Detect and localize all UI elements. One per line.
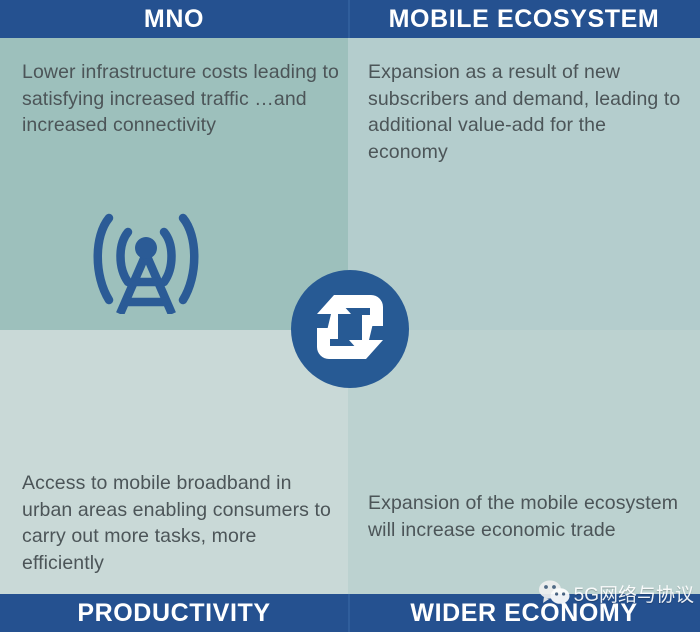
header-bar: MNO MOBILE ECOSYSTEM (0, 0, 700, 38)
quadrant-productivity: Access to mobile broadband in urban area… (0, 330, 348, 594)
header-label-mobile-ecosystem: MOBILE ECOSYSTEM (348, 0, 700, 38)
footer-label-productivity: PRODUCTIVITY (0, 594, 348, 632)
quadrant-mno-body: Lower infrastructure costs leading to sa… (22, 59, 340, 139)
watermark-text: 5G网络与协议 (574, 580, 694, 607)
quadrant-productivity-body: Access to mobile broadband in urban area… (22, 470, 340, 576)
quadrant-mno: Lower infrastructure costs leading to sa… (0, 38, 348, 330)
center-cycle-badge (291, 270, 409, 388)
quadrant-wider-economy: Expansion of the mobile ecosystem will i… (348, 330, 700, 594)
wechat-icon (538, 580, 570, 607)
cycle-arrows-icon (313, 292, 387, 367)
watermark: 5G网络与协议 (538, 580, 694, 607)
quadrant-mobile-ecosystem: Expansion as a result of new subscribers… (348, 38, 700, 330)
cell-tower-icon (90, 210, 202, 314)
quadrant-mobile-ecosystem-body: Expansion as a result of new subscribers… (368, 59, 690, 165)
header-label-mno: MNO (0, 0, 348, 38)
quadrant-wider-economy-body: Expansion of the mobile ecosystem will i… (368, 490, 690, 543)
infographic-root: MNO MOBILE ECOSYSTEM Lower infrastructur… (0, 0, 700, 632)
